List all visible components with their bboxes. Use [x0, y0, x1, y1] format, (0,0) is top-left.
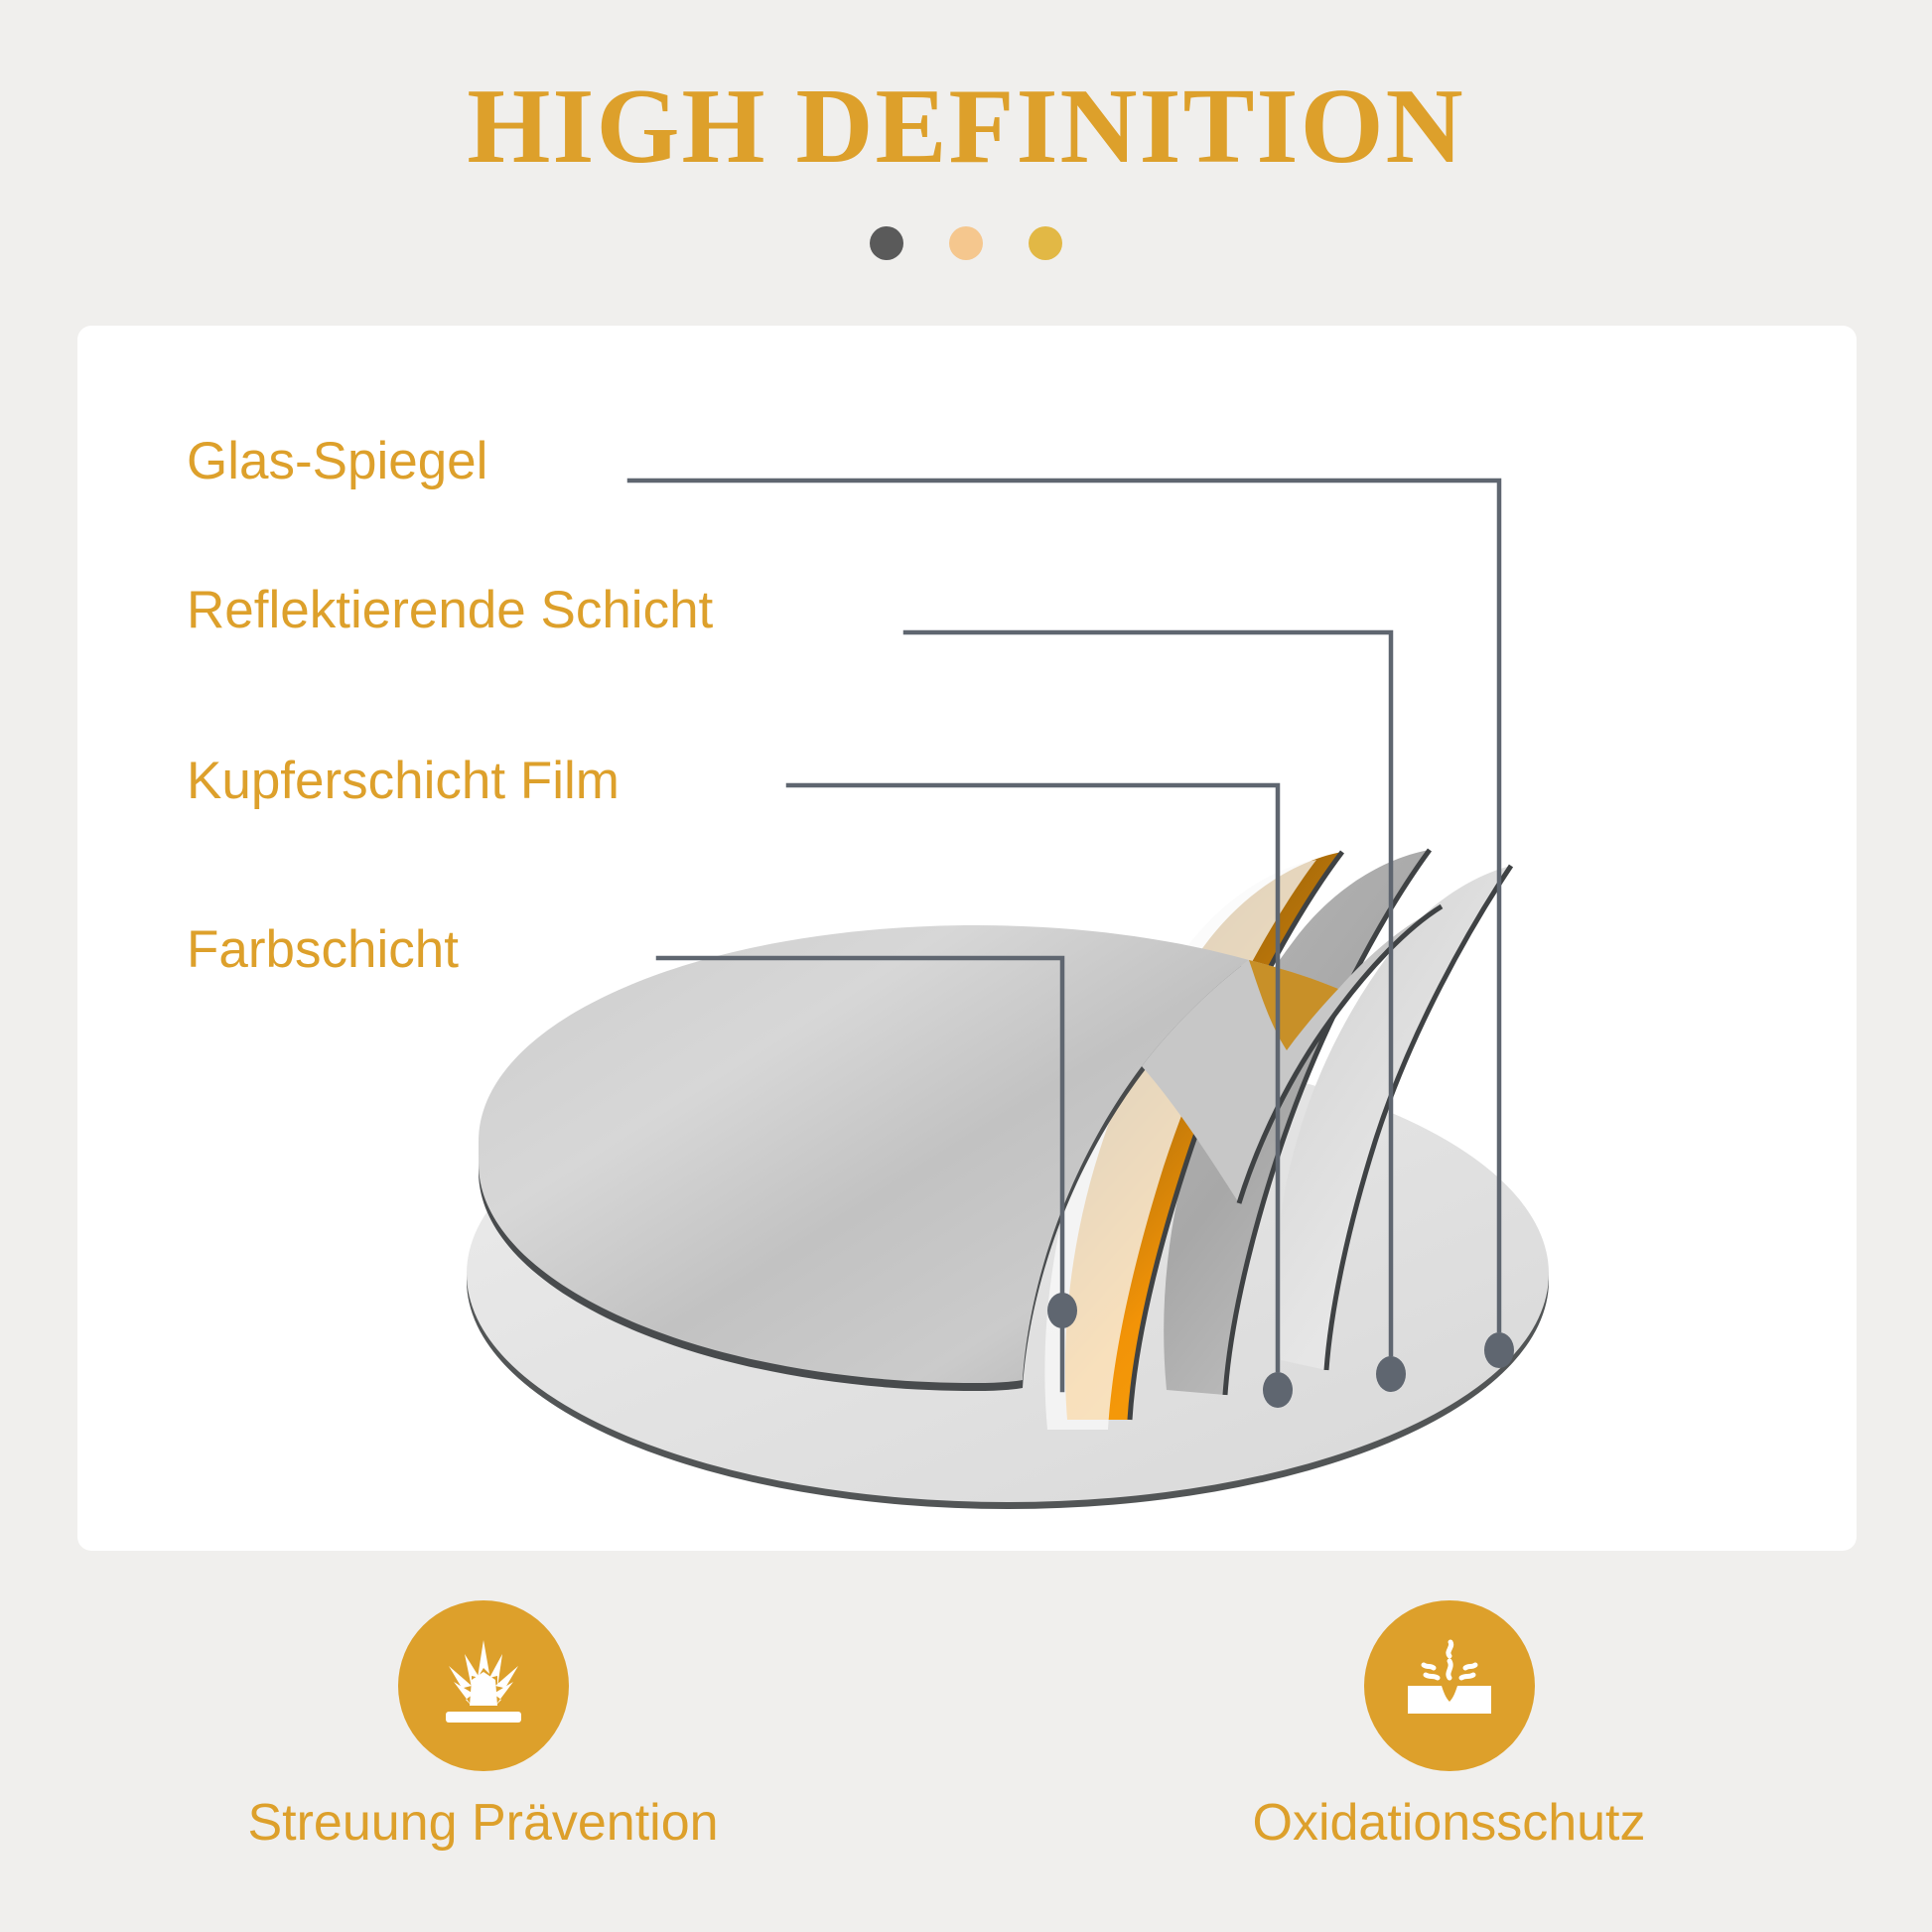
feature-label-streuung-praevention: Streuung Prävention	[247, 1797, 718, 1849]
shatter-burst-icon	[398, 1600, 569, 1771]
layer-label-farbschicht: Farbschicht	[187, 923, 459, 976]
dot-gold-icon	[1029, 226, 1062, 260]
feature-streuung-praevention: Streuung Prävention	[0, 1600, 966, 1932]
dot-indicator-row	[0, 226, 1932, 260]
layer-label-kupferschicht-film: Kupferschicht Film	[187, 755, 620, 807]
dot-dark-icon	[870, 226, 903, 260]
layer-label-reflektierende-schicht: Reflektierende Schicht	[187, 584, 713, 636]
header: HIGH DEFINITION	[0, 0, 1932, 326]
layer-label-glas-spiegel: Glas-Spiegel	[187, 435, 487, 487]
feature-label-oxidationsschutz: Oxidationsschutz	[1253, 1797, 1646, 1849]
dot-peach-icon	[949, 226, 983, 260]
feature-row: Streuung Prävention Oxidationsschutz	[0, 1600, 1932, 1932]
feature-oxidationsschutz: Oxidationsschutz	[966, 1600, 1932, 1932]
oxidation-surface-icon	[1364, 1600, 1535, 1771]
page-title: HIGH DEFINITION	[0, 60, 1932, 194]
